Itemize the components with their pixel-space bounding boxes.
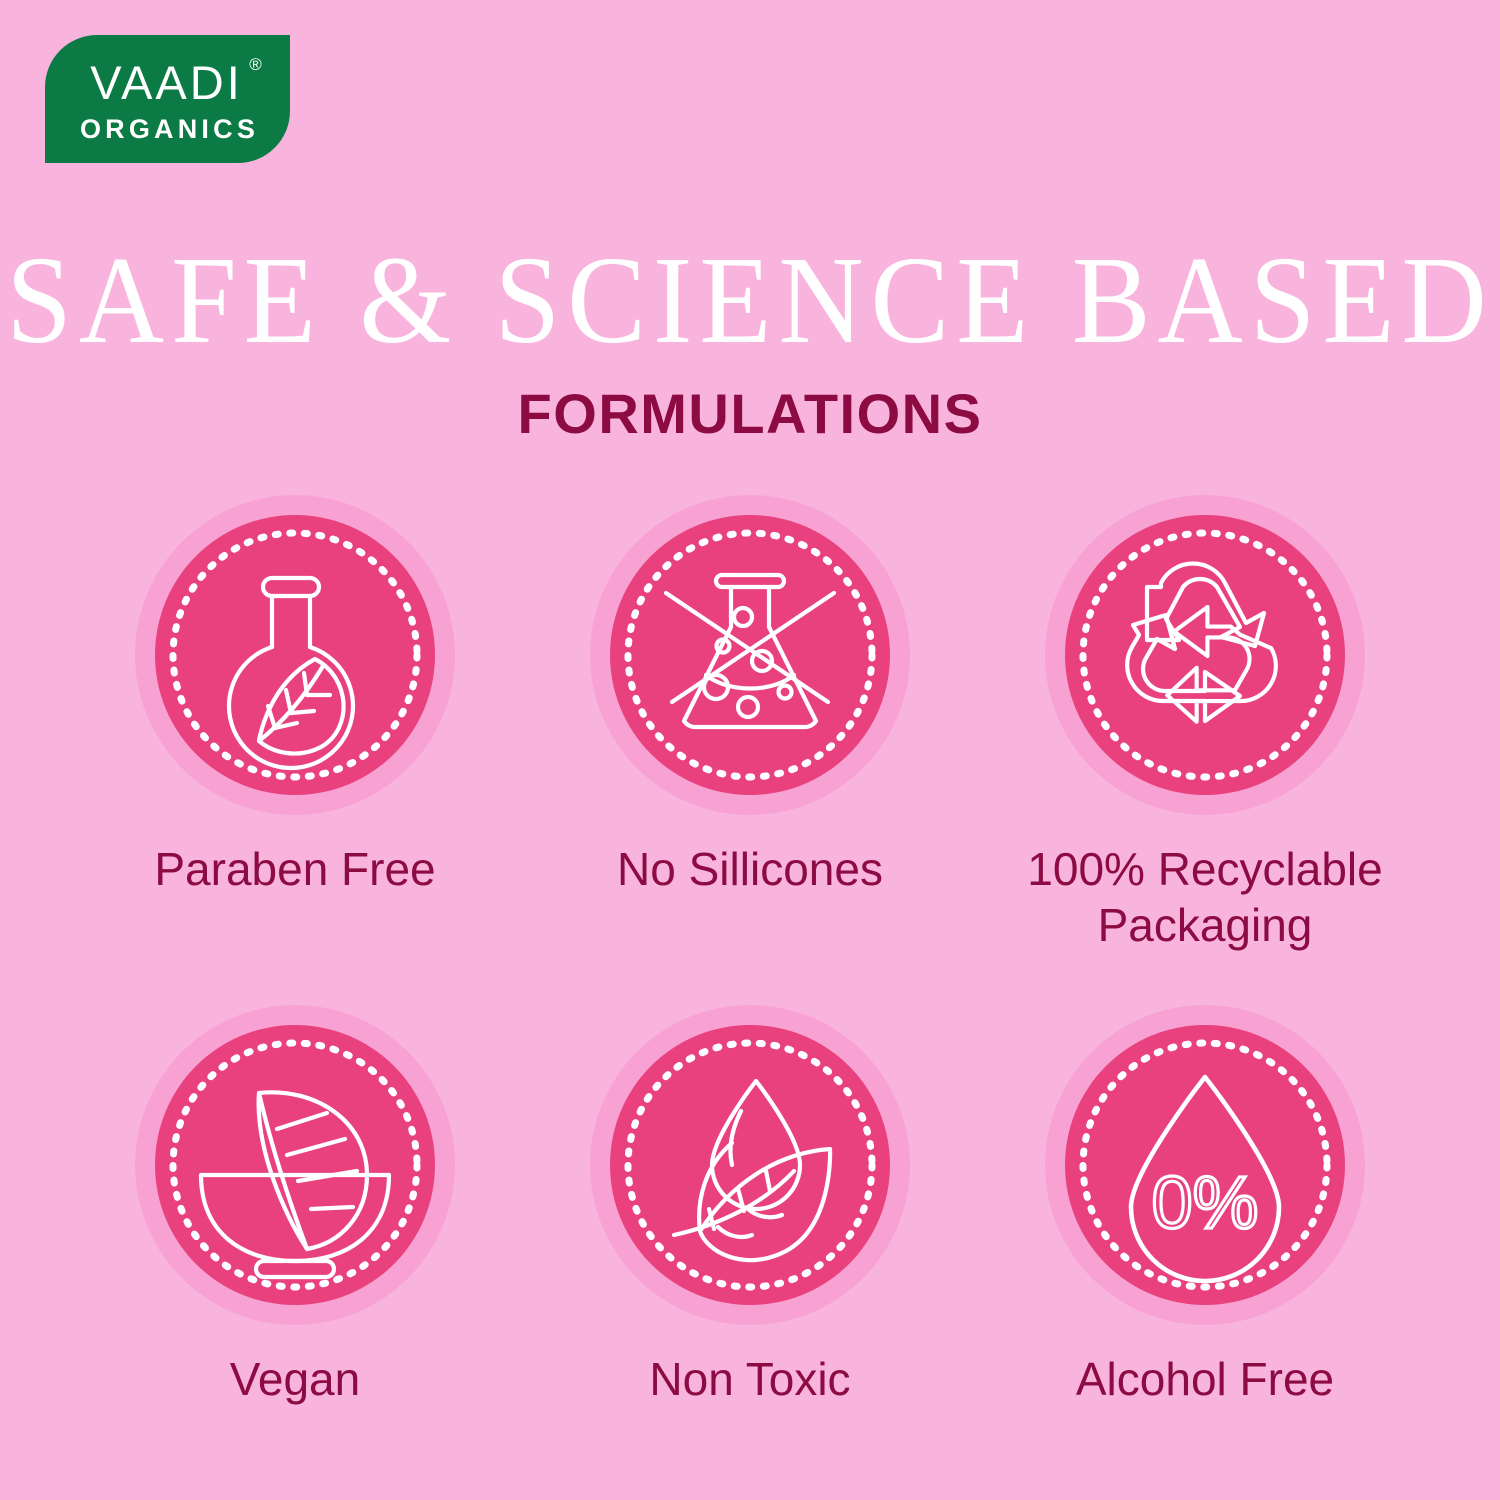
brand-wordmark: VAADI® — [90, 59, 245, 106]
badge-alcohol-free: 0% Alcohol Free — [1025, 1005, 1385, 1407]
badge-paraben-free: Paraben Free — [115, 495, 475, 897]
badge-label: Paraben Free — [154, 841, 435, 897]
badge-halo — [590, 1005, 910, 1325]
flask-with-leaf-icon — [155, 515, 435, 795]
badge-disc — [1065, 515, 1345, 795]
badge-label-line-2: Packaging — [1098, 899, 1313, 951]
badge-label: Alcohol Free — [1076, 1351, 1334, 1407]
badge-halo — [590, 495, 910, 815]
badge-label: No Sillicones — [617, 841, 883, 897]
recycle-icon — [1065, 515, 1345, 795]
page-subtitle: FORMULATIONS — [0, 386, 1500, 442]
badge-disc — [610, 515, 890, 795]
bowl-with-leaf-icon — [155, 1025, 435, 1305]
droplet-zero-percent-icon: 0% — [1065, 1025, 1345, 1305]
page-title: SAFE & SCIENCE BASED — [0, 238, 1500, 363]
brand-tagline: ORGANICS — [76, 116, 259, 143]
badge-halo — [1045, 495, 1365, 815]
badge-non-toxic: Non Toxic — [570, 1005, 930, 1407]
badge-label-line-1: 100% Recyclable — [1027, 843, 1382, 895]
badge-disc — [155, 1025, 435, 1305]
registered-trademark-icon: ® — [249, 56, 262, 73]
badge-no-sillicones: No Sillicones — [570, 495, 930, 897]
badge-halo: 0% — [1045, 1005, 1365, 1325]
badge-label: Non Toxic — [649, 1351, 850, 1407]
badge-halo — [135, 1005, 455, 1325]
crossed-out-flask-icon — [610, 515, 890, 795]
poster-canvas: VAADI® ORGANICS SAFE & SCIENCE BASED FOR… — [0, 0, 1500, 1500]
badge-recyclable-packaging: 100% RecyclablePackaging — [1025, 495, 1385, 953]
brand-logo: VAADI® ORGANICS — [45, 35, 290, 163]
badge-disc — [610, 1025, 890, 1305]
brand-name: VAADI — [90, 56, 243, 109]
droplet-on-leaf-icon — [610, 1025, 890, 1305]
badge-vegan: Vegan — [115, 1005, 475, 1407]
droplet-percent-text: 0% — [1152, 1161, 1259, 1244]
badge-label: 100% RecyclablePackaging — [1027, 841, 1382, 953]
badge-halo — [135, 495, 455, 815]
badge-label: Vegan — [230, 1351, 360, 1407]
badge-disc — [155, 515, 435, 795]
badge-disc: 0% — [1065, 1025, 1345, 1305]
